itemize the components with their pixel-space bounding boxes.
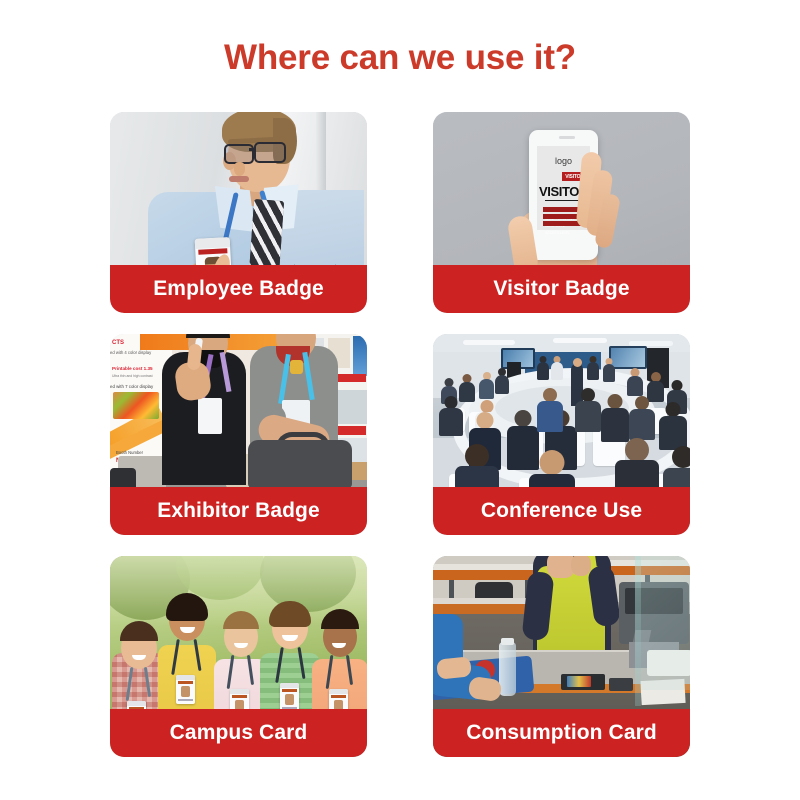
card-text-line <box>178 699 193 701</box>
child-4-campus-card <box>280 683 299 712</box>
exhibitor-2-shirt-logo <box>290 360 303 374</box>
card-header-bar <box>282 689 297 692</box>
card-header-bar <box>331 695 346 698</box>
use-case-card-conference-use[interactable]: Conference Use <box>433 334 690 535</box>
page-title: Where can we use it? <box>0 36 800 80</box>
booth-text-4: Ultra thin and high contrast <box>112 374 162 378</box>
badge-clip <box>195 237 230 249</box>
glass-partition-panel <box>641 556 690 690</box>
attendee-body <box>479 379 494 399</box>
attendee-head <box>608 394 623 409</box>
attendee-back-row <box>537 356 549 380</box>
attendee-head <box>625 438 649 462</box>
use-case-card-campus-card[interactable]: Campus Card <box>110 556 367 757</box>
card-header-bar <box>178 681 193 684</box>
attendee-head <box>635 396 649 410</box>
booth-text-5: ed with 7 color display <box>110 384 166 389</box>
card-label-consumption-card: Consumption Card <box>466 721 657 745</box>
attendee-body <box>575 401 601 432</box>
glass-partition-edge <box>635 556 641 706</box>
payment-card <box>609 678 633 691</box>
attendee-body <box>495 375 509 394</box>
attendee-head <box>477 412 494 429</box>
attendee-head <box>672 446 690 468</box>
device-speaker <box>559 136 575 139</box>
use-case-card-employee-badge[interactable]: Employee Badge <box>110 112 367 313</box>
attendee-back-row <box>603 358 615 382</box>
card-banner-visitor-badge: Visitor Badge <box>433 265 690 313</box>
card-clip <box>127 701 146 706</box>
attendee-back-row <box>551 356 563 380</box>
attendee-mid-row <box>629 396 655 440</box>
attendee-mid-row <box>659 402 687 450</box>
use-case-card-visitor-badge[interactable]: logo VISITOR VISITOR NAME / COMPANY VALI… <box>433 112 690 313</box>
child-2-hair <box>166 593 208 621</box>
eyeglass-bridge <box>249 148 256 151</box>
card-clip <box>329 689 348 694</box>
exhibitor-1-badge <box>198 398 222 434</box>
attendee-front-row <box>537 388 563 432</box>
attendee-head <box>666 402 681 417</box>
attendee-head <box>581 388 595 402</box>
attendee-head <box>515 410 532 427</box>
attendee-head <box>465 444 489 468</box>
booth-poster-3 <box>353 336 367 376</box>
booth-text-6: Booth Number <box>116 450 143 455</box>
card-label-campus-card: Campus Card <box>170 721 308 745</box>
attendee-head <box>543 388 557 402</box>
card-banner-consumption-card: Consumption Card <box>433 709 690 757</box>
attendee-mid-row <box>439 396 463 436</box>
card-label-visitor-badge: Visitor Badge <box>493 277 629 301</box>
attendee-right-row <box>627 368 643 396</box>
luggage-bag <box>248 440 352 488</box>
card-label-employee-badge: Employee Badge <box>153 277 324 301</box>
mouth <box>229 176 249 182</box>
card-photo <box>285 694 294 705</box>
child-3-hair-top <box>223 611 259 629</box>
display-screen-right-image <box>611 348 645 367</box>
card-reader-screen <box>567 676 591 687</box>
attendee-front-row <box>575 388 601 432</box>
booth-text-3: Printable cost 1.35 <box>112 366 153 371</box>
attendee-back-row <box>495 368 509 394</box>
attendee-body <box>551 362 563 380</box>
attendee-body <box>629 409 655 440</box>
staff-hand-right <box>571 556 591 576</box>
attendee-front-row <box>601 394 629 442</box>
use-case-card-consumption-card[interactable]: Consumption Card <box>433 556 690 757</box>
attendee-body <box>627 376 643 396</box>
card-header-bar <box>232 695 247 698</box>
ceiling-light-1 <box>463 340 515 345</box>
booth-product-image <box>113 392 159 419</box>
attendee-body <box>601 408 629 442</box>
attendee-body <box>537 362 549 380</box>
attendee-body <box>587 362 599 380</box>
eyeglass-lens-right <box>254 142 286 163</box>
card-banner-exhibitor-badge: Exhibitor Badge <box>110 487 367 535</box>
child-5-hair-top <box>321 609 359 629</box>
attendee-head <box>540 450 565 475</box>
attendee-body <box>659 416 687 450</box>
card-label-conference-use: Conference Use <box>481 499 642 523</box>
card-banner-employee-badge: Employee Badge <box>110 265 367 313</box>
badge-info-text-3: ACCESS LEVEL <box>543 231 570 235</box>
card-label-exhibitor-badge: Exhibitor Badge <box>157 499 320 523</box>
child-1-hair-top <box>120 621 158 641</box>
card-clip <box>230 689 249 694</box>
booth-text-1: CTS <box>112 340 124 346</box>
child-4-hair <box>269 601 311 627</box>
attendee-body <box>603 364 615 382</box>
card-banner-campus-card: Campus Card <box>110 709 367 757</box>
exhibitor-1-hair <box>186 334 230 338</box>
child-2-campus-card <box>176 675 195 704</box>
water-bottle-cap <box>501 638 514 645</box>
card-banner-conference-use: Conference Use <box>433 487 690 535</box>
booth-poster-6 <box>334 390 367 424</box>
use-case-card-exhibitor-badge[interactable]: CTS ed with 4 color display Printable co… <box>110 334 367 535</box>
use-case-grid: Employee Badge logo VISITOR VISITOR NAME… <box>110 112 690 757</box>
card-clip <box>176 675 195 680</box>
attendee-back-row <box>587 356 599 380</box>
eyeglass-lens-left <box>224 144 254 164</box>
card-photo <box>181 686 190 697</box>
water-bottle <box>499 642 516 696</box>
attendee-body <box>439 408 463 436</box>
attendee-back-row <box>479 372 494 399</box>
card-clip <box>280 683 299 688</box>
ceiling-light-2 <box>553 338 607 343</box>
attendee-body <box>537 401 563 432</box>
presenter-head <box>573 358 582 367</box>
booth-text-2: ed with 4 color display <box>110 350 164 355</box>
nose <box>234 162 245 176</box>
